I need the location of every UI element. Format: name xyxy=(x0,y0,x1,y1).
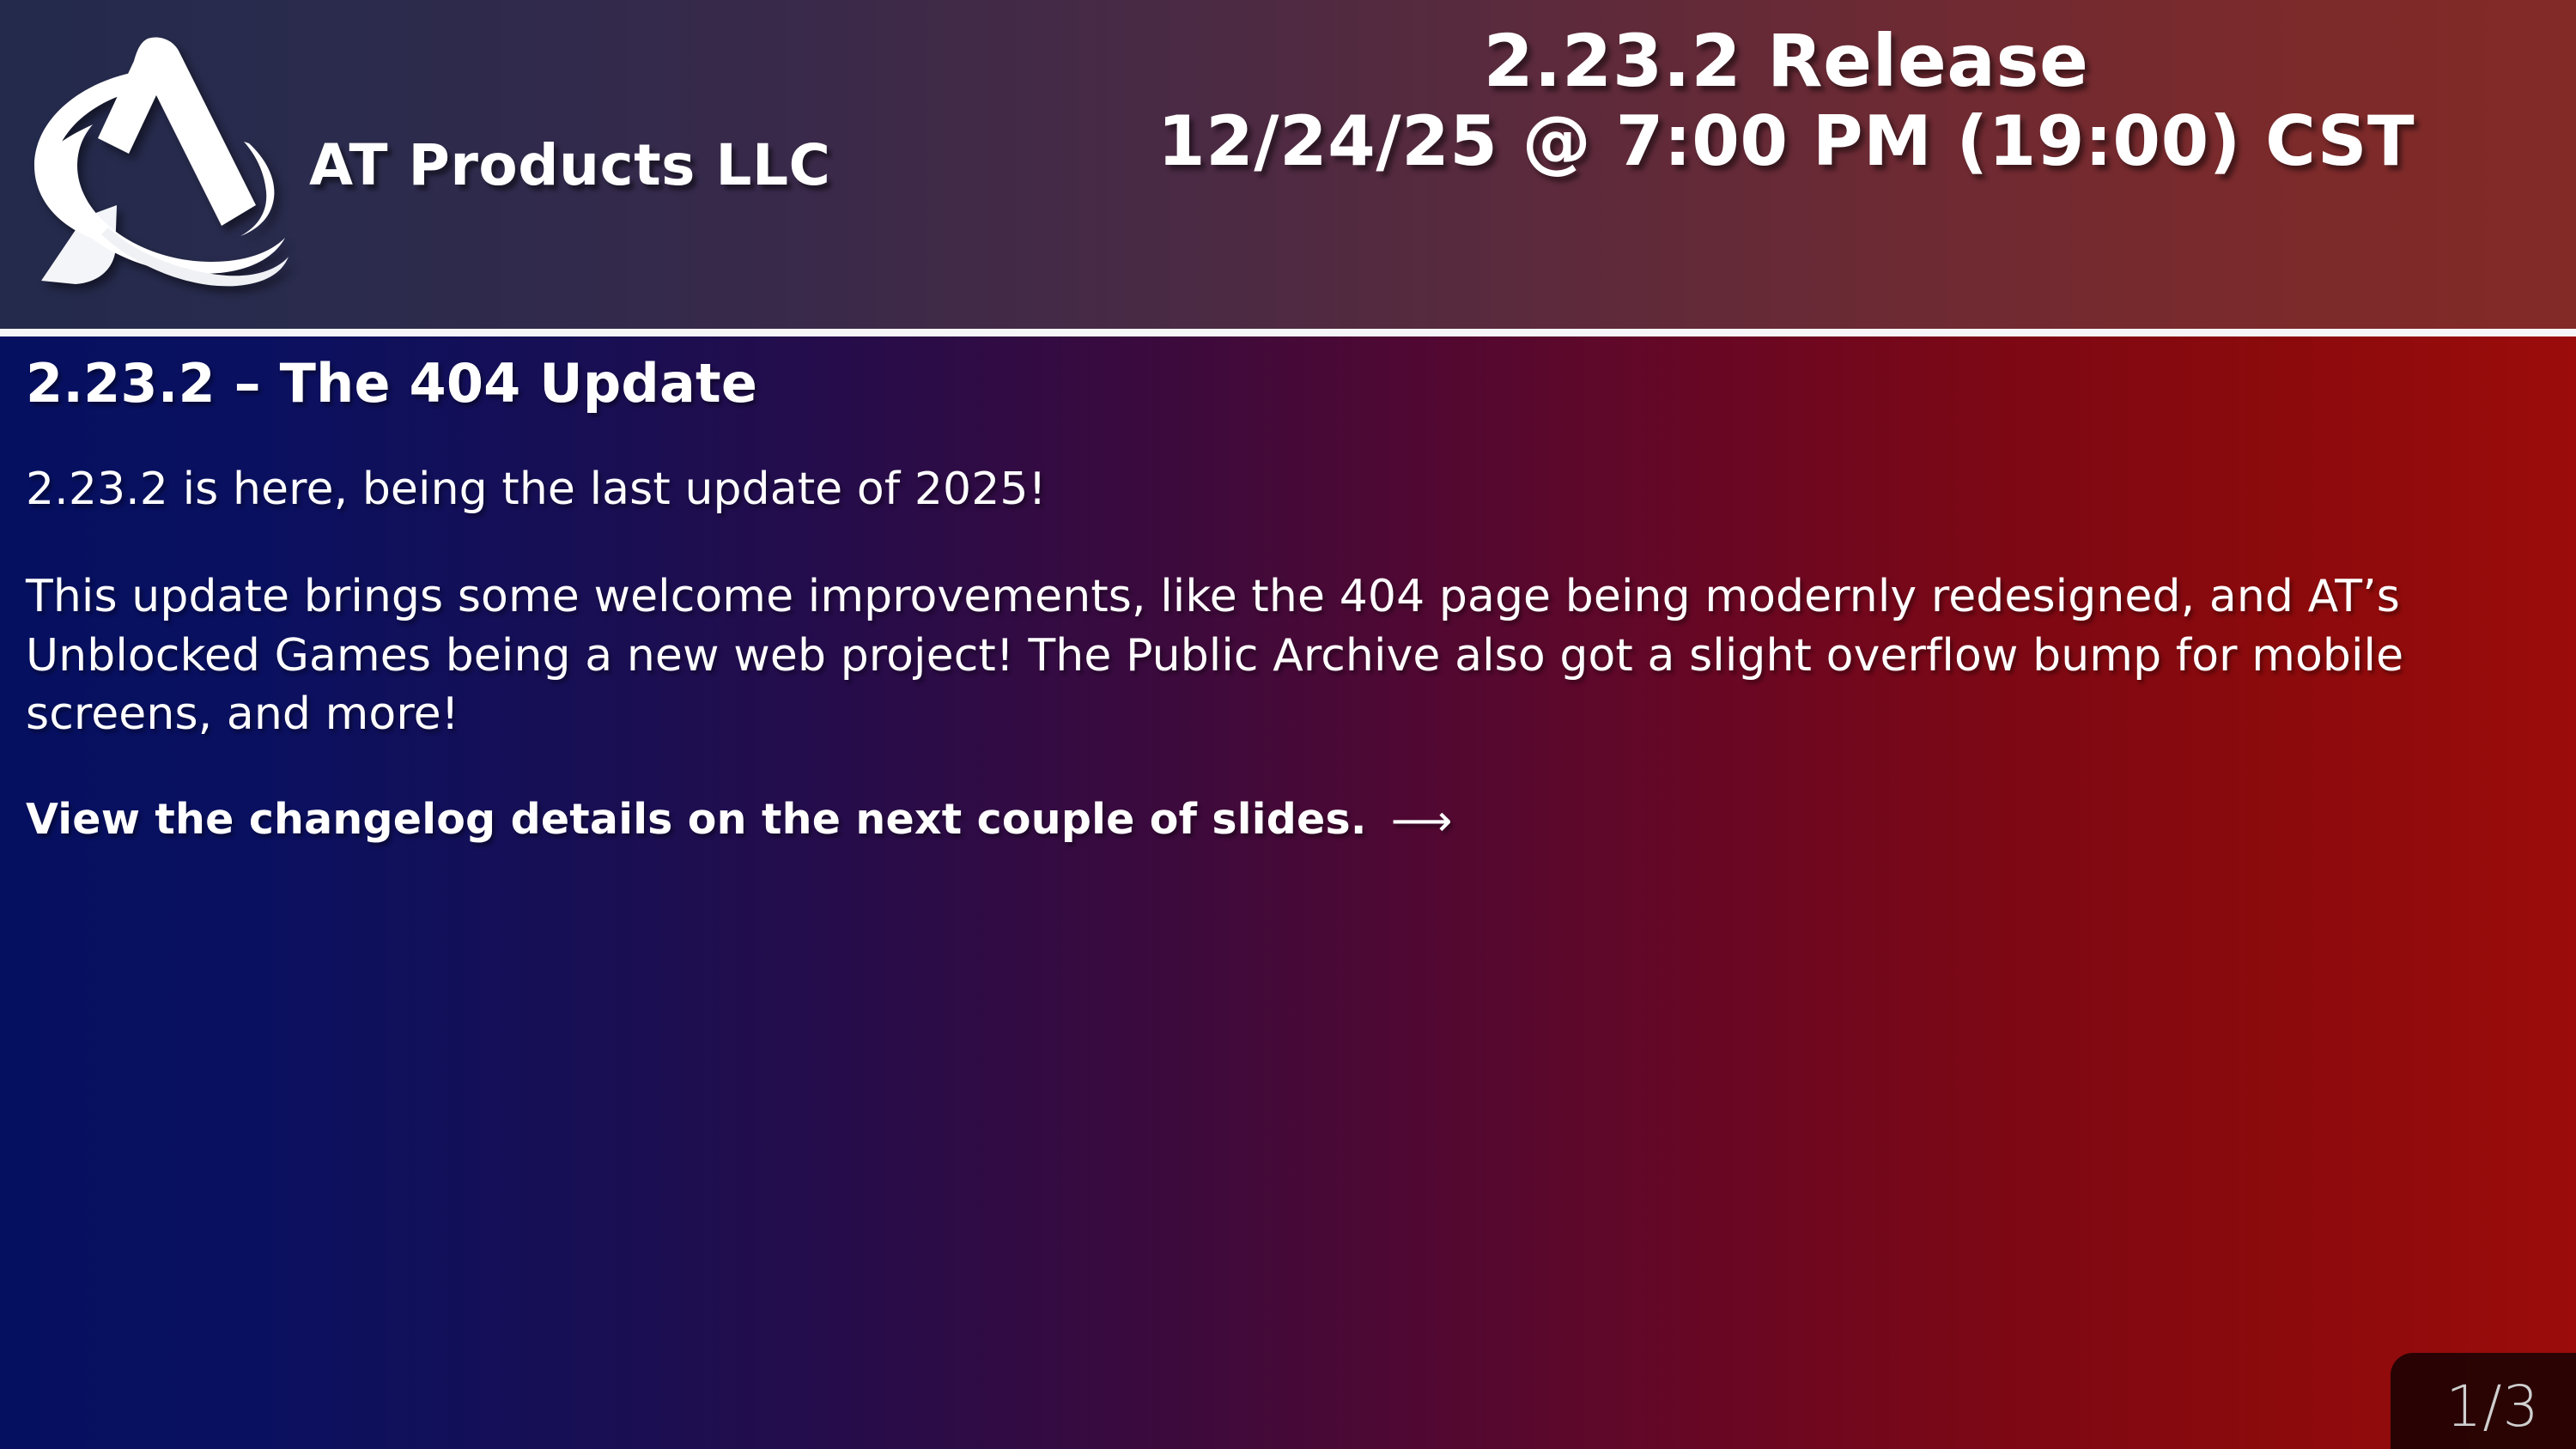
release-header-text: 2.23.2 Release 12/24/25 @ 7:00 PM (19:00… xyxy=(1013,21,2559,182)
release-announcement-slide: AT Products LLC 2.23.2 Release 12/24/25 … xyxy=(0,0,2576,1449)
page-title: 2.23.2 – The 404 Update xyxy=(26,352,2576,415)
intro-paragraph: 2.23.2 is here, being the last update of… xyxy=(26,460,2555,519)
brand-lockup: AT Products LLC xyxy=(19,19,830,311)
call-to-action-text: View the changelog details on the next c… xyxy=(26,792,2576,849)
slide-header: AT Products LLC 2.23.2 Release 12/24/25 … xyxy=(0,0,2576,329)
slide-content: 2.23.2 – The 404 Update 2.23.2 is here, … xyxy=(26,336,2576,849)
slide-body: 2.23.2 – The 404 Update 2.23.2 is here, … xyxy=(0,336,2576,1449)
page-indicator-badge: 1/3 xyxy=(2391,1353,2576,1449)
brand-name: AT Products LLC xyxy=(309,132,830,198)
release-title: 2.23.2 Release xyxy=(1013,21,2559,102)
at-products-logo-icon xyxy=(19,23,294,306)
right-arrow-icon: ⟶ xyxy=(1391,793,1453,849)
release-datetime: 12/24/25 @ 7:00 PM (19:00) CST xyxy=(1013,102,2559,182)
call-to-action-label: View the changelog details on the next c… xyxy=(26,795,1367,844)
details-paragraph: This update brings some welcome improvem… xyxy=(26,567,2555,744)
header-divider xyxy=(0,329,2576,336)
